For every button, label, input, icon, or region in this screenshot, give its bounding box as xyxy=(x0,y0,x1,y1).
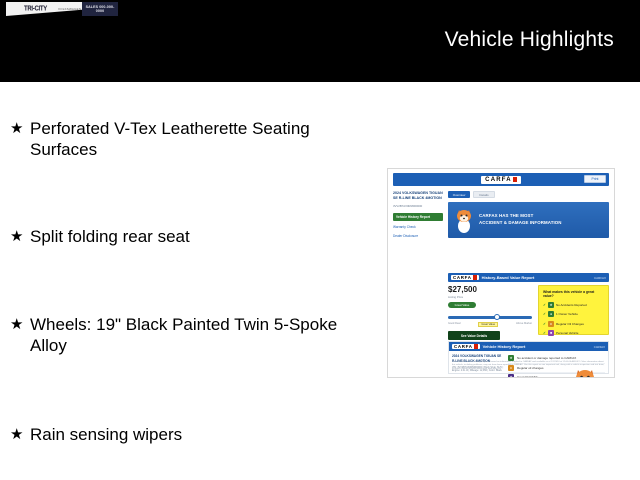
list-item: ★ Rain sensing wipers xyxy=(8,424,182,445)
star-icon: ★ xyxy=(508,374,514,378)
check-icon: ✓ xyxy=(543,331,546,335)
slider-label-high: Above Market xyxy=(516,322,532,327)
carfax-main: Overview Details xyxy=(448,191,609,238)
carfax-logo-text: CARFA xyxy=(454,344,473,349)
value-slider-knob[interactable] xyxy=(494,314,500,320)
carfax-logo-text: CARFA xyxy=(453,275,472,280)
report-footer-disclaimer: This CARFAX Vehicle History Report is ba… xyxy=(452,361,605,371)
list-item: ★ Wheels: 19" Black Painted Twin 5-Spoke… xyxy=(8,314,350,356)
dealer-logo[interactable]: TRI-CITY VOLKSWAGEN SALES 000-000-0000 xyxy=(6,2,118,16)
highlight-text: Wheels: 19" Black Painted Twin 5-Spoke A… xyxy=(30,314,350,356)
shield-icon: ★ xyxy=(548,302,554,308)
great-value-pill: Great Value xyxy=(448,302,476,308)
star-icon: ★ xyxy=(8,424,30,445)
vehicle-history-report-button[interactable]: Vehicle History Report xyxy=(393,213,443,221)
value-report-brand: CARFAX xyxy=(594,276,606,280)
list-item: ★ Split folding rear seat xyxy=(8,226,190,247)
car-icon: ■ xyxy=(548,330,554,336)
value-reason-row: ✓ ● 1 Owner Vehicle xyxy=(543,311,604,317)
slide-root: TRI-CITY VOLKSWAGEN SALES 000-000-0000 V… xyxy=(0,0,640,480)
listing-price-label: Listing Price xyxy=(448,295,534,299)
carfax-logo-x-icon xyxy=(473,275,477,280)
carfax-logo-text: CARFA xyxy=(485,177,512,183)
carfax-logo: CARFA xyxy=(451,275,479,280)
tab-overview[interactable]: Overview xyxy=(448,191,470,198)
carfax-topbar: CARFA xyxy=(393,173,609,186)
value-reason-row: ✓ ■ Personal Vehicle xyxy=(543,330,604,336)
star-icon: ★ xyxy=(8,226,30,247)
see-value-details-button[interactable]: See Value Details xyxy=(448,331,500,340)
star-icon: ★ xyxy=(8,118,30,160)
highlight-text: Split folding rear seat xyxy=(30,226,190,247)
slider-label-mid: Great Value xyxy=(478,322,498,327)
value-reason-label: Personal Vehicle xyxy=(556,331,578,335)
value-reason-label: No Accidents Reported xyxy=(556,303,587,307)
value-reason-row: ✓ ♦ Regular Oil Changes xyxy=(543,321,604,327)
hero-line-2: ACCIDENT & DAMAGE INFORMATION xyxy=(479,220,562,227)
listing-price: $27,500 xyxy=(448,285,534,294)
dealer-logo-plate: TRI-CITY VOLKSWAGEN xyxy=(6,2,82,16)
carfax-logo: CARFA xyxy=(452,344,480,349)
highlight-text: Rain sensing wipers xyxy=(30,424,182,445)
report-title: Vehicle History Report xyxy=(483,344,526,349)
slider-label-low: Good Deal xyxy=(448,322,460,327)
dealer-disclosure-link[interactable]: Dealer Disclosure xyxy=(393,234,443,239)
sidebar-vin: 3VV2B7AX0RM000000 xyxy=(393,204,443,208)
check-icon: ✓ xyxy=(543,312,546,316)
value-reason-label: 1 Owner Vehicle xyxy=(556,312,578,316)
highlight-text: Perforated V-Tex Leatherette Seating Sur… xyxy=(30,118,350,160)
great-value-box-title: What makes this vehicle a great value? xyxy=(543,290,604,298)
dealer-logo-subtext: VOLKSWAGEN xyxy=(58,7,81,11)
person-icon: ● xyxy=(548,311,554,317)
carfax-sidebar: 2024 VOLKSWAGEN TIGUAN SE R-LINE BLACK 4… xyxy=(393,191,443,239)
warranty-check-link[interactable]: Warranty Check xyxy=(393,225,443,230)
finding-label: No accident or damage reported to CARFAX xyxy=(517,356,576,360)
report-brand: CARFAX xyxy=(594,345,605,349)
dealer-phone-badge[interactable]: SALES 000-000-0000 xyxy=(82,2,118,16)
check-icon: ✓ xyxy=(543,303,546,307)
vehicle-history-report-card: CARFA Vehicle History Report CARFAX 2024… xyxy=(448,341,609,374)
slide-header: TRI-CITY VOLKSWAGEN SALES 000-000-0000 V… xyxy=(0,0,640,82)
value-slider-labels: Good Deal Great Value Above Market xyxy=(448,322,532,327)
carfax-logo-x-icon xyxy=(474,344,478,349)
fox-mascot-icon xyxy=(453,207,475,233)
page-title: Vehicle Highlights xyxy=(445,28,614,52)
carfax-tabs: Overview Details xyxy=(448,191,609,198)
star-icon: ★ xyxy=(8,314,30,356)
great-value-box: What makes this vehicle a great value? ✓… xyxy=(538,285,609,335)
report-header-bar: CARFA Vehicle History Report CARFAX xyxy=(449,342,608,351)
value-report-title: History-Based Value Report xyxy=(482,275,535,280)
oil-icon: ♦ xyxy=(548,321,554,327)
sidebar-vehicle-title: 2024 VOLKSWAGEN TIGUAN SE R-LINE BLACK 4… xyxy=(393,191,443,202)
value-reason-label: Regular Oil Changes xyxy=(556,322,584,326)
carfax-report-screenshot: CARFA Print 2024 VOLKSWAGEN TIGUAN SE R-… xyxy=(387,168,615,378)
value-reason-row: ✓ ★ No Accidents Reported xyxy=(543,302,604,308)
print-button[interactable]: Print xyxy=(584,175,606,183)
value-slider[interactable] xyxy=(448,316,532,319)
list-item: ★ Perforated V-Tex Leatherette Seating S… xyxy=(8,118,350,160)
dealer-logo-word: TRI-CITY xyxy=(24,5,47,13)
carfax-logo: CARFA xyxy=(481,176,521,184)
tab-details[interactable]: Details xyxy=(473,191,495,198)
check-icon: ✓ xyxy=(543,322,546,326)
carfax-logo-x-icon xyxy=(513,177,517,182)
finding-label: Great Reliability xyxy=(517,375,538,378)
hero-line-1: CARFAX HAS THE MOST xyxy=(479,213,562,220)
carfax-hero-banner: CARFAX HAS THE MOST ACCIDENT & DAMAGE IN… xyxy=(448,202,609,238)
value-report-band: CARFA History-Based Value Report CARFAX xyxy=(448,273,609,282)
carfax-hero-text: CARFAX HAS THE MOST ACCIDENT & DAMAGE IN… xyxy=(479,213,562,226)
